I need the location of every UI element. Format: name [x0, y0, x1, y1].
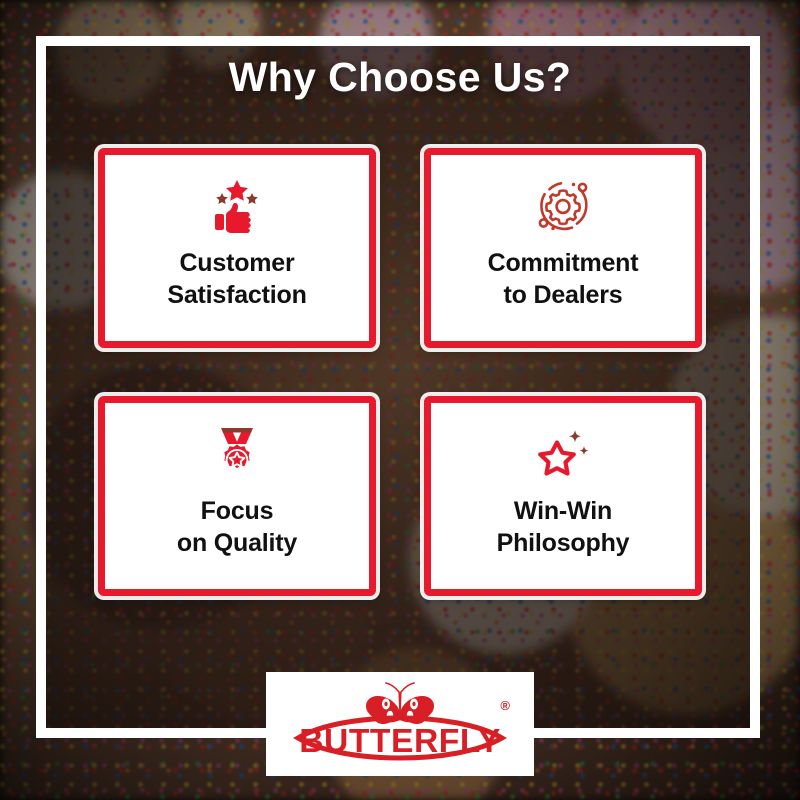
registered-trademark-icon: ®: [500, 698, 510, 713]
brand-logo-plate: BUTTERFLY ®: [266, 672, 534, 776]
thumbs-up-stars-icon: [205, 173, 269, 239]
card-label-line2: Satisfaction: [167, 279, 306, 311]
card-label-line1: Win-Win: [514, 497, 612, 525]
card-label-line1: Focus: [201, 497, 274, 525]
poster-canvas: Why Choose Us? Customer Satisfaction: [0, 0, 800, 800]
card-commitment-to-dealers[interactable]: Commitment to Dealers: [424, 148, 702, 348]
card-label-line1: Commitment: [488, 249, 639, 277]
card-label: Focus on Quality: [177, 495, 297, 559]
page-title: Why Choose Us?: [0, 54, 800, 101]
card-label: Commitment to Dealers: [488, 247, 639, 311]
card-label-line1: Customer: [179, 249, 294, 277]
card-focus-on-quality[interactable]: Focus on Quality: [98, 396, 376, 596]
brand-wordmark: BUTTERFLY: [280, 722, 521, 760]
card-label-line2: Philosophy: [497, 527, 630, 559]
card-customer-satisfaction[interactable]: Customer Satisfaction: [98, 148, 376, 348]
brand-logo: BUTTERFLY ®: [282, 678, 518, 770]
card-label: Customer Satisfaction: [167, 247, 306, 311]
card-win-win-philosophy[interactable]: Win-Win Philosophy: [424, 396, 702, 596]
card-label-line2: to Dealers: [488, 279, 639, 311]
feature-card-grid: Customer Satisfaction: [98, 148, 702, 596]
card-label: Win-Win Philosophy: [497, 495, 630, 559]
card-label-line2: on Quality: [177, 527, 297, 559]
star-sparkle-icon: [531, 421, 595, 487]
medal-star-icon: [205, 421, 269, 487]
gear-orbit-icon: [531, 173, 595, 239]
